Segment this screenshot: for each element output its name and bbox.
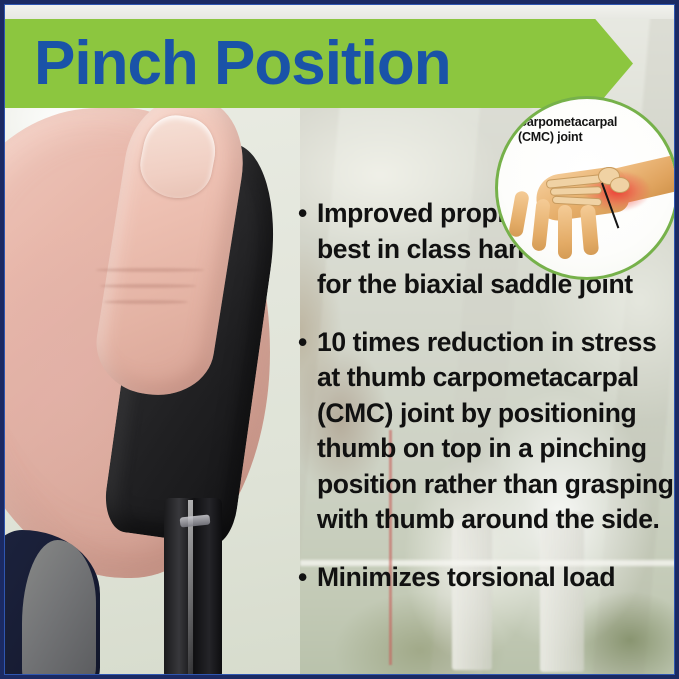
knuckle-crease <box>96 268 204 272</box>
cmc-carpal-bone <box>610 177 630 193</box>
knuckle-crease <box>104 300 188 304</box>
knuckle-crease <box>100 284 196 288</box>
cmc-finger <box>531 198 550 251</box>
cmc-finger <box>508 190 530 238</box>
cmc-hand-illustration <box>506 147 676 267</box>
page-title: Pinch Position <box>34 24 451 104</box>
top-edge-strip <box>4 4 675 19</box>
bullet-item: 10 times reduction in stress at thumb ca… <box>298 325 676 538</box>
cane-shaft-highlight <box>188 500 193 679</box>
cmc-inset-disc: Carpometacarpal (CMC) joint <box>495 96 679 280</box>
jacket-cuff <box>22 540 96 679</box>
poster-root: Pinch Position Carpometacarpal (CM <box>0 0 679 679</box>
bullet-item: Minimizes torsional load <box>298 560 676 596</box>
cmc-inset: Carpometacarpal (CMC) joint <box>495 96 679 248</box>
cmc-finger <box>558 205 572 259</box>
cmc-label-line1: Carpometacarpal <box>518 115 617 130</box>
cmc-label-line2: (CMC) joint <box>518 130 617 145</box>
cmc-label: Carpometacarpal (CMC) joint <box>518 115 617 145</box>
